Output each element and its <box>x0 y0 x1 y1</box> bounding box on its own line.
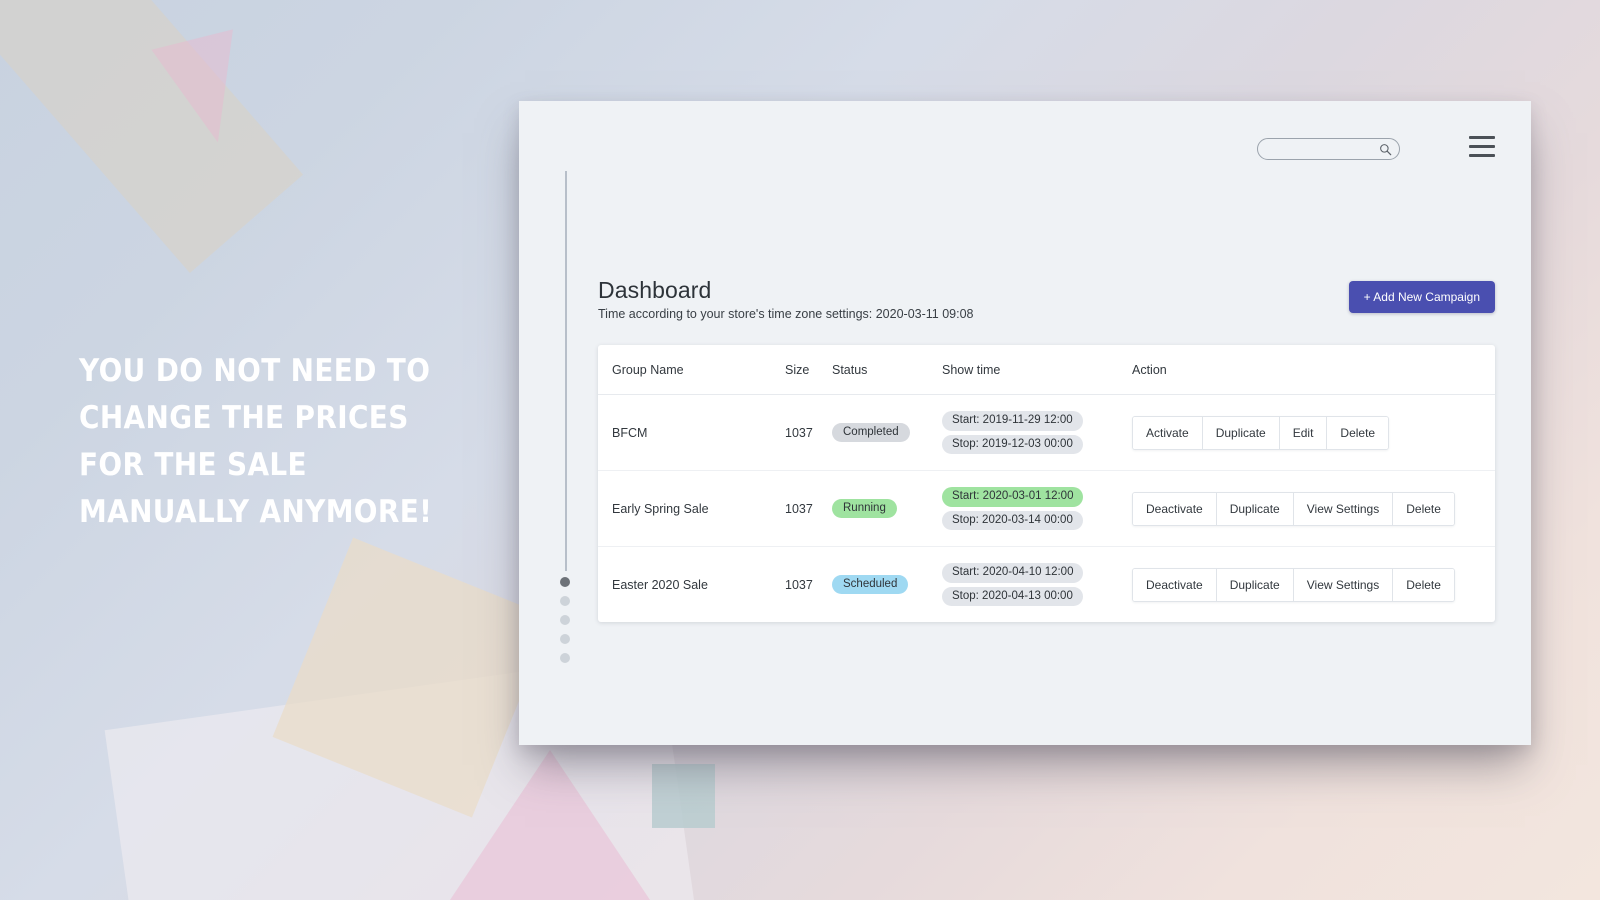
action-button-delete[interactable]: Delete <box>1393 569 1454 601</box>
diagonal-band-shape <box>0 0 303 273</box>
hamburger-bar-3 <box>1469 154 1495 157</box>
table-row: Early Spring Sale1037RunningStart: 2020-… <box>598 471 1495 547</box>
action-button-duplicate[interactable]: Duplicate <box>1203 417 1280 449</box>
show-time-stop-pill: Stop: 2019-12-03 00:00 <box>942 435 1083 455</box>
campaigns-table-card: Group Name Size Status Show time Action … <box>598 345 1495 622</box>
hero-line-4: manually anymore! <box>79 489 466 536</box>
hero-line-3: for the sale <box>79 442 466 489</box>
hero-line-2: change the prices <box>79 395 466 442</box>
sidebar-rail-line <box>565 171 567 571</box>
cell-group-name: BFCM <box>598 395 785 471</box>
cell-action: ActivateDuplicateEditDelete <box>1132 395 1495 471</box>
status-badge: Scheduled <box>832 575 908 595</box>
table-row: Easter 2020 Sale1037ScheduledStart: 2020… <box>598 547 1495 623</box>
promo-slide: You do not need to change the prices for… <box>0 0 1600 900</box>
app-window: Dashboard Time according to your store's… <box>519 101 1531 745</box>
carousel-dot-5[interactable] <box>560 653 570 663</box>
action-button-view-settings[interactable]: View Settings <box>1294 493 1394 525</box>
hero-headline: You do not need to change the prices for… <box>79 348 466 536</box>
carousel-dot-1[interactable] <box>560 577 570 587</box>
hamburger-menu-icon[interactable] <box>1469 136 1495 158</box>
column-header-show-time: Show time <box>942 345 1132 395</box>
cell-show-time: Start: 2020-04-10 12:00Stop: 2020-04-13 … <box>942 547 1132 623</box>
action-button-delete[interactable]: Delete <box>1393 493 1454 525</box>
column-header-size: Size <box>785 345 832 395</box>
cell-action: DeactivateDuplicateView SettingsDelete <box>1132 547 1495 623</box>
cell-group-name: Easter 2020 Sale <box>598 547 785 623</box>
cell-show-time: Start: 2020-03-01 12:00Stop: 2020-03-14 … <box>942 471 1132 547</box>
table-header: Group Name Size Status Show time Action <box>598 345 1495 395</box>
action-button-view-settings[interactable]: View Settings <box>1294 569 1394 601</box>
status-badge: Completed <box>832 423 910 443</box>
action-button-group: ActivateDuplicateEditDelete <box>1132 416 1389 450</box>
show-time-start-pill: Start: 2020-04-10 12:00 <box>942 563 1083 583</box>
action-button-deactivate[interactable]: Deactivate <box>1133 493 1217 525</box>
action-button-delete[interactable]: Delete <box>1327 417 1388 449</box>
pink-triangle-bottom-shape <box>430 750 670 900</box>
cell-status: Running <box>832 471 942 547</box>
add-new-campaign-button[interactable]: + Add New Campaign <box>1349 281 1495 313</box>
campaigns-table: Group Name Size Status Show time Action … <box>598 345 1495 622</box>
action-button-duplicate[interactable]: Duplicate <box>1217 569 1294 601</box>
carousel-dot-2[interactable] <box>560 596 570 606</box>
carousel-dots[interactable] <box>560 577 570 672</box>
cell-status: Completed <box>832 395 942 471</box>
teal-square-shape <box>652 764 715 828</box>
action-button-group: DeactivateDuplicateView SettingsDelete <box>1132 492 1455 526</box>
table-body: BFCM1037CompletedStart: 2019-11-29 12:00… <box>598 395 1495 623</box>
cell-show-time: Start: 2019-11-29 12:00Stop: 2019-12-03 … <box>942 395 1132 471</box>
carousel-dot-4[interactable] <box>560 634 570 644</box>
cell-size: 1037 <box>785 547 832 623</box>
show-time-stop-pill: Stop: 2020-03-14 00:00 <box>942 511 1083 531</box>
column-header-action: Action <box>1132 345 1495 395</box>
hamburger-bar-2 <box>1469 145 1495 148</box>
carousel-dot-3[interactable] <box>560 615 570 625</box>
search-icon <box>1379 143 1392 156</box>
column-header-group-name: Group Name <box>598 345 785 395</box>
show-time-start-pill: Start: 2020-03-01 12:00 <box>942 487 1083 507</box>
main-content: Dashboard Time according to your store's… <box>598 277 1495 622</box>
status-badge: Running <box>832 499 897 519</box>
cell-status: Scheduled <box>832 547 942 623</box>
cell-size: 1037 <box>785 395 832 471</box>
hero-line-1: You do not need to <box>79 348 466 395</box>
cell-group-name: Early Spring Sale <box>598 471 785 547</box>
action-button-duplicate[interactable]: Duplicate <box>1217 493 1294 525</box>
action-button-activate[interactable]: Activate <box>1133 417 1203 449</box>
table-row: BFCM1037CompletedStart: 2019-11-29 12:00… <box>598 395 1495 471</box>
show-time-stop-pill: Stop: 2020-04-13 00:00 <box>942 587 1083 607</box>
action-button-group: DeactivateDuplicateView SettingsDelete <box>1132 568 1455 602</box>
app-header <box>519 101 1531 173</box>
search-box[interactable] <box>1257 138 1400 160</box>
cell-action: DeactivateDuplicateView SettingsDelete <box>1132 471 1495 547</box>
search-input[interactable] <box>1258 139 1399 159</box>
cell-size: 1037 <box>785 471 832 547</box>
action-button-edit[interactable]: Edit <box>1280 417 1328 449</box>
show-time-start-pill: Start: 2019-11-29 12:00 <box>942 411 1083 431</box>
column-header-status: Status <box>832 345 942 395</box>
hamburger-bar-1 <box>1469 136 1495 139</box>
action-button-deactivate[interactable]: Deactivate <box>1133 569 1217 601</box>
table-header-row: Group Name Size Status Show time Action <box>598 345 1495 395</box>
